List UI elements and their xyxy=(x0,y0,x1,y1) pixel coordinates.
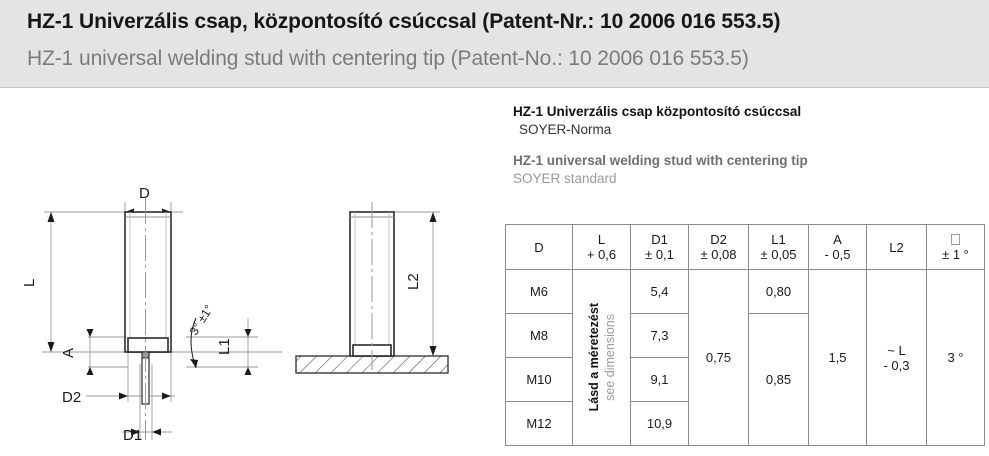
page-title-english: HZ-1 universal welding stud with centeri… xyxy=(27,47,749,71)
page-title-hungarian: HZ-1 Univerzális csap, központosító csúc… xyxy=(27,10,780,34)
spec-title-english: HZ-1 universal welding stud with centeri… xyxy=(513,153,983,168)
cell-D-m12: M12 xyxy=(506,402,573,446)
label-L: L xyxy=(21,279,38,287)
col-header-D2-name: D2 xyxy=(710,232,727,247)
col-header-A: A - 0,5 xyxy=(809,225,867,270)
dimension-table: D L + 0,6 D1 ± 0,1 D2 ± 0,08 L1 ± 0,05 A… xyxy=(505,224,985,446)
cell-L2-line2: - 0,3 xyxy=(867,358,926,373)
cell-D-m10: M10 xyxy=(506,358,573,402)
cell-D1-m8: 7,3 xyxy=(631,314,689,358)
col-header-squareness: ± 1 ° xyxy=(927,225,985,270)
table-header-row: D L + 0,6 D1 ± 0,1 D2 ± 0,08 L1 ± 0,05 A… xyxy=(506,225,985,270)
col-header-L-name: L xyxy=(598,232,605,247)
col-header-A-tolerance: - 0,5 xyxy=(809,247,866,262)
cell-D-m8: M8 xyxy=(506,314,573,358)
cell-D1-m12: 10,9 xyxy=(631,402,689,446)
col-header-L1: L1 ± 0,05 xyxy=(749,225,809,270)
spec-title-hungarian: HZ-1 Univerzális csap központosító csúcc… xyxy=(513,104,983,119)
col-header-L-tolerance: + 0,6 xyxy=(573,247,630,262)
col-header-L2: L2 xyxy=(867,225,927,270)
squareness-symbol-icon xyxy=(951,234,960,245)
cell-A-all: 1,5 xyxy=(809,270,867,446)
cell-D1-m6: 5,4 xyxy=(631,270,689,314)
cell-L2-line1: ~ L xyxy=(887,343,905,358)
label-D2: D2 xyxy=(62,389,81,406)
cell-D1-m10: 9,1 xyxy=(631,358,689,402)
cell-L-note: Lásd a méretezést see dimensions xyxy=(573,270,631,446)
label-D: D xyxy=(139,185,150,202)
col-header-D1-name: D1 xyxy=(651,232,668,247)
col-header-L1-name: L1 xyxy=(771,232,785,247)
col-header-squareness-tolerance: ± 1 ° xyxy=(927,247,984,262)
stud-welded-drawing: L2 xyxy=(280,190,500,390)
cell-L2-all: ~ L - 0,3 xyxy=(867,270,927,446)
spec-standard-english: SOYER standard xyxy=(513,171,983,186)
label-L1: L1 xyxy=(216,338,233,355)
col-header-D-name: D xyxy=(534,240,543,255)
stud-technical-drawing: D L A L1 D1 D2 3° ±1° xyxy=(0,140,290,456)
col-header-L: L + 0,6 xyxy=(573,225,631,270)
cell-L1-rest: 0,85 xyxy=(749,314,809,446)
label-angle-note: 3° ±1° xyxy=(187,302,216,337)
cell-L-note-english: see dimensions xyxy=(603,314,617,401)
label-A: A xyxy=(60,348,77,358)
header-band: HZ-1 Univerzális csap, központosító csúc… xyxy=(0,0,989,88)
label-L2: L2 xyxy=(405,273,422,290)
col-header-D1-tolerance: ± 0,1 xyxy=(631,247,688,262)
col-header-D2: D2 ± 0,08 xyxy=(689,225,749,270)
cell-L1-m6: 0,80 xyxy=(749,270,809,314)
col-header-D1: D1 ± 0,1 xyxy=(631,225,689,270)
table-row: M6 Lásd a méretezést see dimensions 5,4 … xyxy=(506,270,985,314)
spec-standard-hungarian: SOYER-Norma xyxy=(519,122,983,137)
col-header-A-name: A xyxy=(833,232,842,247)
label-D1: D1 xyxy=(123,427,142,444)
cell-D-m6: M6 xyxy=(506,270,573,314)
cell-D2-all: 0,75 xyxy=(689,270,749,446)
col-header-D: D xyxy=(506,225,573,270)
cell-squareness-all: 3 ° xyxy=(927,270,985,446)
specification-text-block: HZ-1 Univerzális csap központosító csúcc… xyxy=(513,104,983,186)
col-header-L2-name: L2 xyxy=(889,240,903,255)
col-header-L1-tolerance: ± 0,05 xyxy=(749,247,808,262)
col-header-D2-tolerance: ± 0,08 xyxy=(689,247,748,262)
cell-L-note-hungarian: Lásd a méretezést xyxy=(587,303,601,411)
